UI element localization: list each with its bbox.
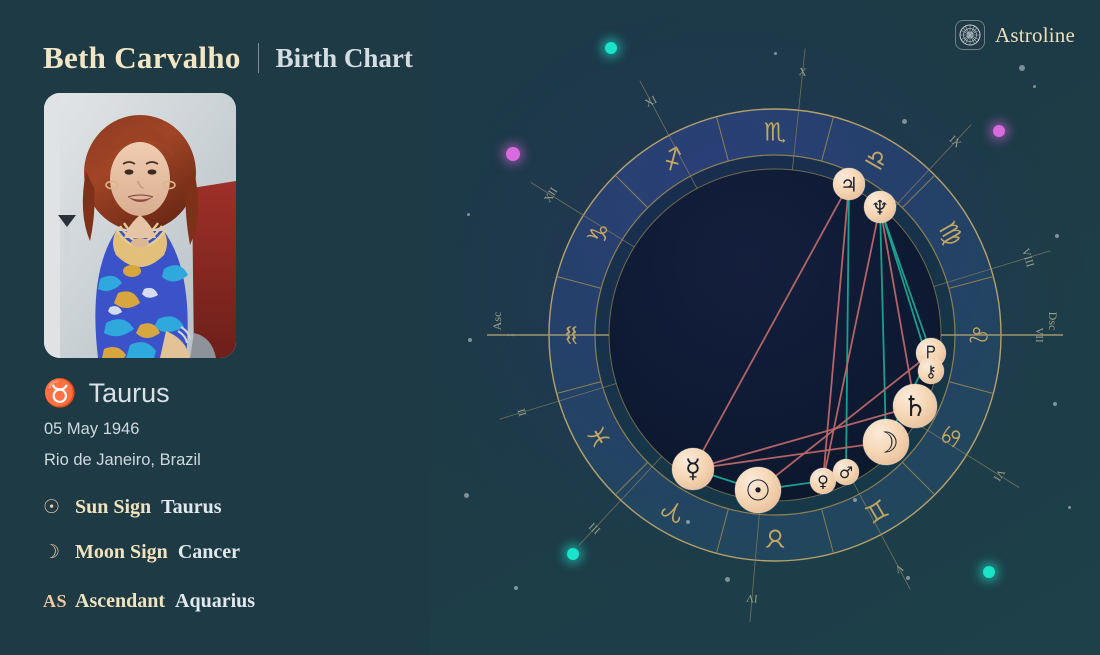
star xyxy=(1019,65,1025,71)
star xyxy=(725,577,730,582)
star xyxy=(506,147,520,161)
star xyxy=(902,119,907,124)
asc-label: Asc xyxy=(490,312,504,331)
zodiac-sign-scorpio: ♏ xyxy=(764,118,786,147)
star xyxy=(468,338,472,342)
avatar xyxy=(44,93,236,358)
house-number-V: V xyxy=(893,561,906,575)
moon-icon: ☽ xyxy=(43,541,65,563)
planet-moon[interactable]: ☽ xyxy=(863,419,909,465)
star xyxy=(1033,85,1036,88)
star xyxy=(1055,234,1059,238)
planet-neptune[interactable]: ♆ xyxy=(864,191,896,223)
house-number-I: I xyxy=(505,333,517,337)
house-number-XII: XII xyxy=(542,185,560,205)
star xyxy=(686,520,690,524)
chart-type-label: Birth Chart xyxy=(276,43,413,74)
ascendant-row: AS Ascendant Aquarius xyxy=(43,590,255,613)
star xyxy=(1068,506,1071,509)
sun-icon: ☉ xyxy=(43,496,65,518)
page-title: Beth Carvalho Birth Chart xyxy=(43,40,413,76)
birth-date: 05 May 1946 xyxy=(44,420,139,439)
planet-glyph-mars: ♂ xyxy=(839,463,853,482)
birth-chart-page: Beth Carvalho Birth Chart Astroline xyxy=(0,0,1100,655)
planet-glyph-chiron: ⚷ xyxy=(925,362,937,381)
house-number-VIII: VIII xyxy=(1019,247,1036,269)
ascendant-value: Aquarius xyxy=(175,590,255,613)
star xyxy=(605,42,617,54)
star xyxy=(1053,402,1057,406)
ascendant-label: Ascendant xyxy=(75,590,165,613)
moon-sign-label: Moon Sign xyxy=(75,541,168,564)
taurus-icon: ♉ xyxy=(43,380,77,407)
sun-sign-row: ☉ Sun Sign Taurus xyxy=(43,496,222,519)
star xyxy=(906,576,910,580)
ascendant-icon: AS xyxy=(43,591,65,612)
house-number-VII: VII xyxy=(1033,327,1045,343)
star xyxy=(467,213,470,216)
planet-glyph-jupiter: ♃ xyxy=(840,173,858,197)
planet-glyph-saturn: ♄ xyxy=(902,390,927,423)
house-number-VI: VI xyxy=(991,467,1008,483)
moon-sign-row: ☽ Moon Sign Cancer xyxy=(43,541,240,564)
star xyxy=(567,548,579,560)
star xyxy=(464,493,469,498)
zodiac-sign-taurus: ♉ xyxy=(764,524,786,553)
planet-mercury[interactable]: ☿ xyxy=(672,448,714,490)
house-number-X: X xyxy=(798,66,807,79)
planet-glyph-neptune: ♆ xyxy=(871,196,889,220)
person-name: Beth Carvalho xyxy=(43,40,241,76)
star xyxy=(993,125,1005,137)
sun-sign-heading: ♉ Taurus xyxy=(43,378,170,409)
moon-sign-value: Cancer xyxy=(178,541,240,564)
sun-sign-name: Taurus xyxy=(89,378,170,409)
planet-glyph-moon: ☽ xyxy=(873,426,899,460)
star xyxy=(853,498,857,502)
house-number-II: II xyxy=(516,407,530,418)
birth-place: Rio de Janeiro, Brazil xyxy=(44,451,201,470)
planet-glyph-mercury: ☿ xyxy=(685,455,701,485)
dsc-label: Dsc xyxy=(1046,312,1060,331)
star xyxy=(514,586,518,590)
house-number-IV: IV xyxy=(746,592,759,605)
planet-mars[interactable]: ♂ xyxy=(833,459,859,485)
birth-chart-wheel[interactable]: ♏♎♍♌♋♊♉♈♓♒♑♐XIXVIIIVIIVIVIVIIIIIIXIIXIAs… xyxy=(430,0,1100,655)
planet-chiron[interactable]: ⚷ xyxy=(918,358,944,384)
planet-saturn[interactable]: ♄ xyxy=(893,384,937,428)
star xyxy=(774,52,777,55)
planet-venus[interactable]: ♀ xyxy=(810,468,836,494)
planet-glyph-sun: ☉ xyxy=(745,474,771,508)
sun-sign-value: Taurus xyxy=(161,496,221,519)
title-divider xyxy=(258,43,259,73)
star xyxy=(983,566,995,578)
planet-jupiter[interactable]: ♃ xyxy=(833,168,865,200)
planet-sun[interactable]: ☉ xyxy=(735,467,781,513)
house-number-XI: XI xyxy=(643,94,659,110)
planet-glyph-venus: ♀ xyxy=(817,472,829,491)
sun-sign-label: Sun Sign xyxy=(75,496,151,519)
